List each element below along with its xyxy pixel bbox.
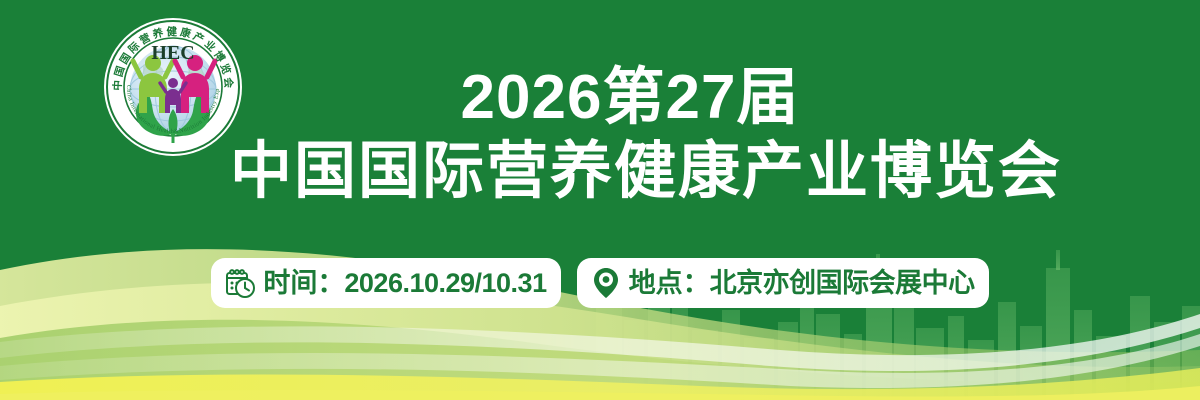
hec-expo-logo: HEC 中国国际营养健康产业博览会 China International He… <box>103 17 243 157</box>
event-date-label: 时间： <box>263 268 344 298</box>
event-venue-value: 北京亦创国际会展中心 <box>710 268 975 298</box>
calendar-clock-icon <box>223 266 257 300</box>
event-venue-pill[interactable]: 地点：北京亦创国际会展中心 <box>577 258 989 308</box>
logo-acronym: HEC <box>151 42 194 64</box>
ribbon-1 <box>0 314 1200 371</box>
expo-banner: HEC 中国国际营养健康产业博览会 China International He… <box>0 0 1200 400</box>
map-pin-icon <box>589 266 623 300</box>
title-line-2: 中国国际营养健康产业博览会 <box>230 134 1030 210</box>
event-venue-text: 地点：北京亦创国际会展中心 <box>629 268 975 298</box>
event-date-text: 时间：2026.10.29/10.31 <box>263 268 546 298</box>
skyline-buildings-left <box>300 336 540 400</box>
wave-3 <box>0 320 1200 400</box>
title-line-1: 2026第27届 <box>230 62 1030 134</box>
event-info-row: 时间：2026.10.29/10.31 地点：北京亦创国际会展中心 <box>0 258 1200 308</box>
ribbon-2 <box>0 334 1200 388</box>
wave-yellow-2 <box>0 386 1200 400</box>
event-date-pill[interactable]: 时间：2026.10.29/10.31 <box>211 258 560 308</box>
banner-titles: 2026第27届 中国国际营养健康产业博览会 <box>230 62 1030 210</box>
event-venue-label: 地点： <box>629 268 710 298</box>
wave-yellow <box>0 368 1200 400</box>
event-date-value: 2026.10.29/10.31 <box>344 268 546 298</box>
